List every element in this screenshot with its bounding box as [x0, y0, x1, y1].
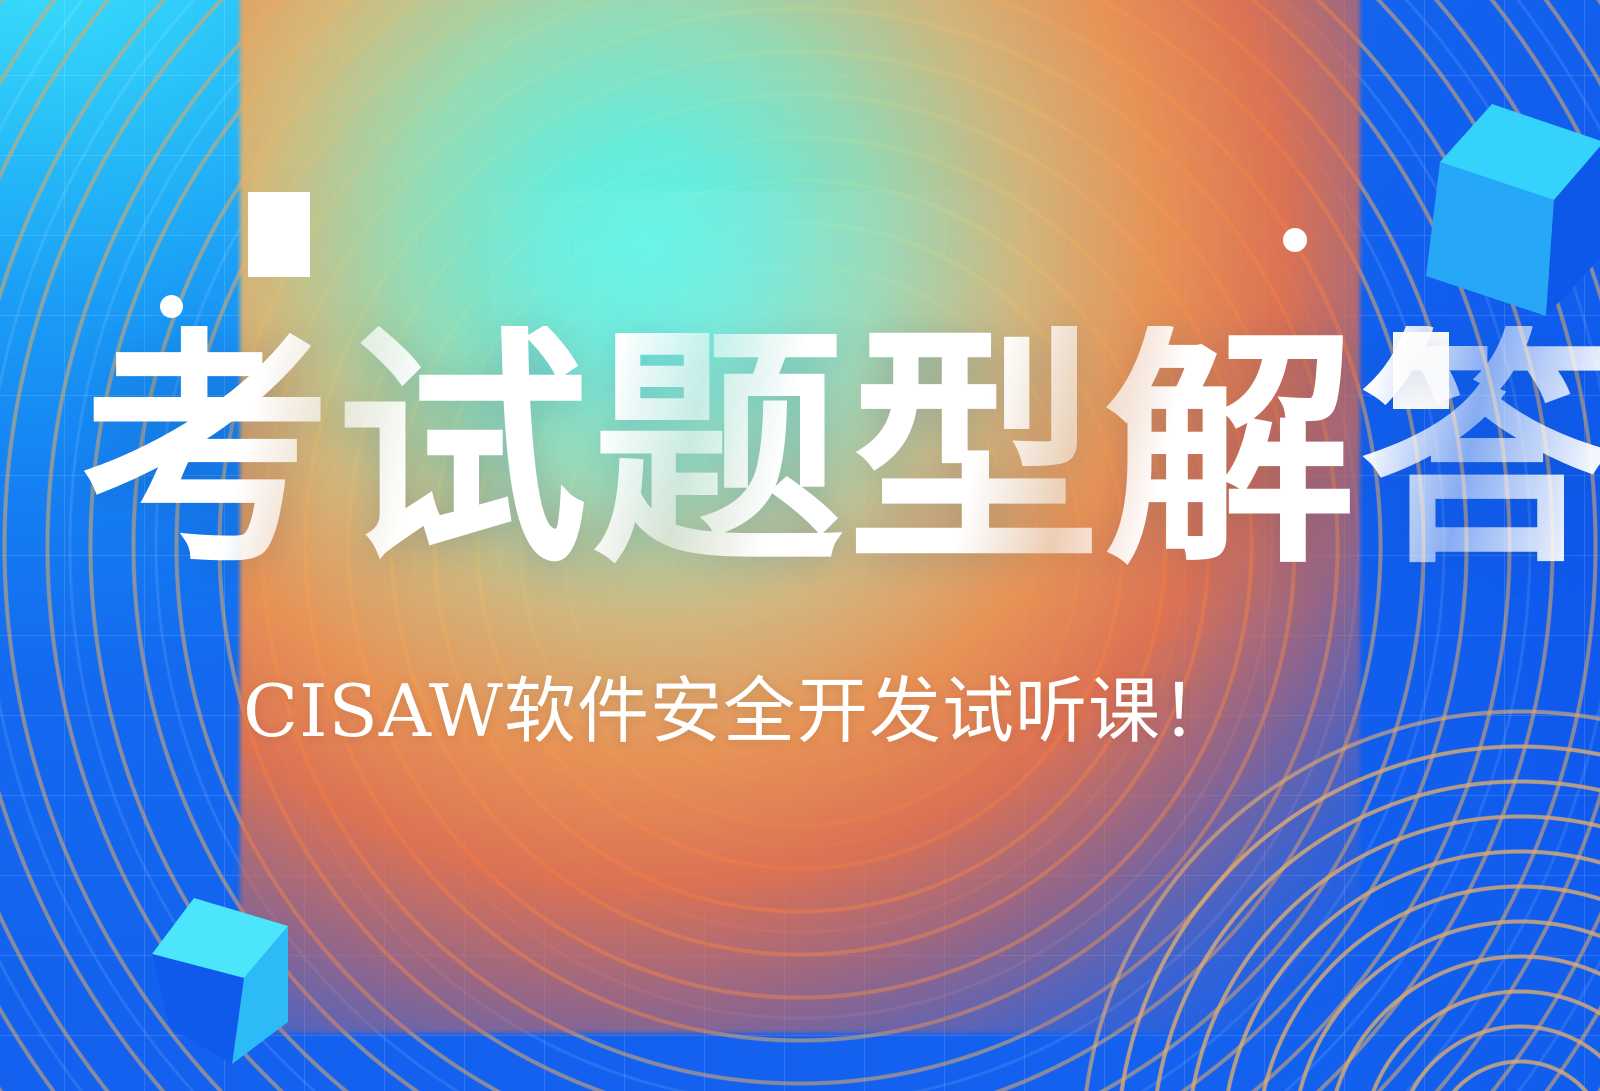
promo-poster: 考试题型解答 CISAW软件安全开发试听课！	[0, 0, 1600, 1091]
poster-subtitle: CISAW软件安全开发试听课！	[243, 670, 1234, 753]
poster-title: 考试题型解答	[80, 326, 1600, 578]
text-block: 考试题型解答 CISAW软件安全开发试听课！	[0, 0, 1600, 1091]
